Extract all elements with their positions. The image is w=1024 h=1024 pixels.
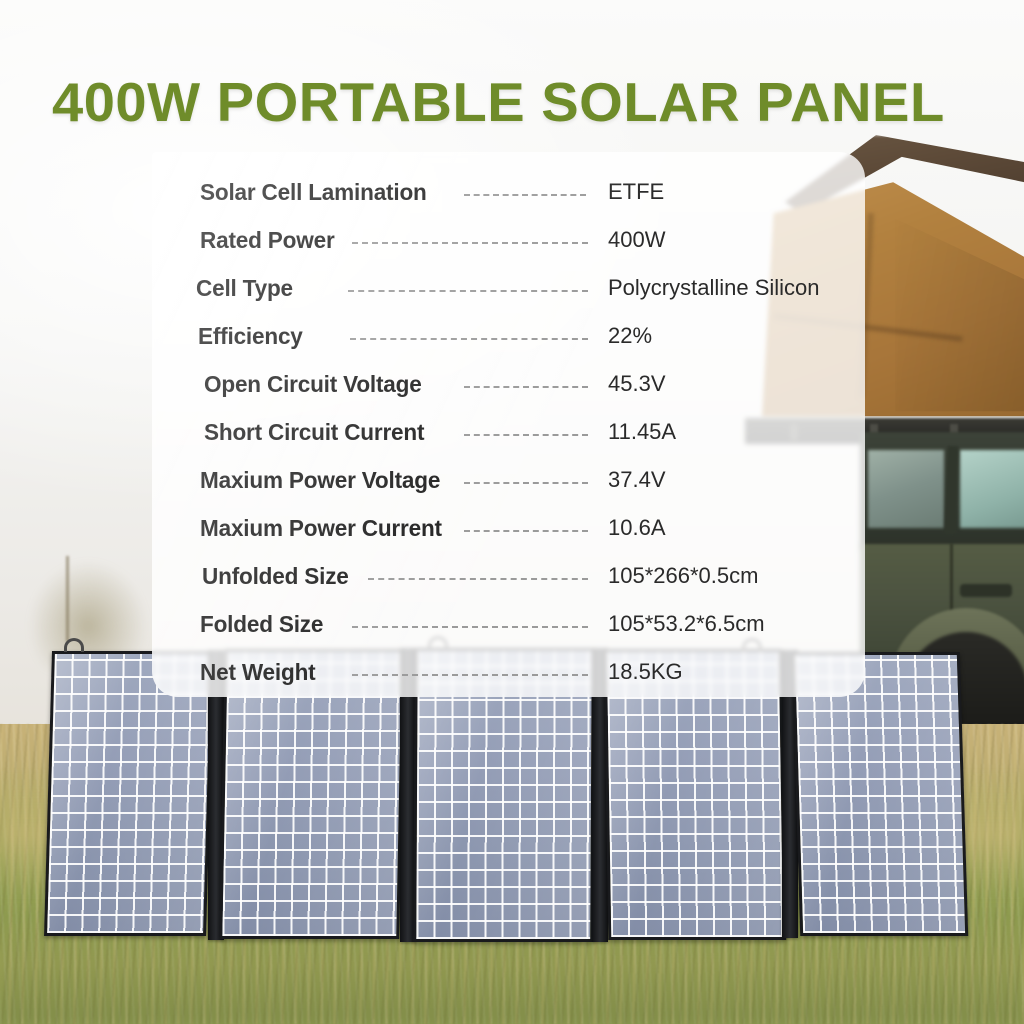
spec-value: 10.6A [608,515,666,541]
spec-row-maximum-power-current: Maxium Power Current 10.6A [152,504,865,552]
spec-value: 11.45A [608,419,676,445]
spec-label: Open Circuit Voltage [204,371,422,398]
spec-value: 22% [608,323,652,349]
spec-leader-line [352,242,588,244]
specification-row-list: Solar Cell Lamination ETFE Rated Power 4… [152,152,865,697]
spec-label: Unfolded Size [202,563,349,590]
spec-value: 37.4V [608,467,666,493]
product-infographic: Solar Cell Lamination ETFE Rated Power 4… [0,0,1024,1024]
spec-row-maximum-power-voltage: Maxium Power Voltage 37.4V [152,456,865,504]
spec-leader-line [352,674,588,676]
spec-leader-line [464,434,588,436]
spec-value: 105*53.2*6.5cm [608,611,765,637]
spec-value: Polycrystalline Silicon [608,275,820,301]
spec-label: Cell Type [196,275,293,302]
spec-row-rated-power: Rated Power 400W [152,216,865,264]
spec-value: 18.5KG [608,659,683,685]
spec-leader-line [352,626,588,628]
spec-row-cell-type: Cell Type Polycrystalline Silicon [152,264,865,312]
spec-label: Net Weight [200,659,315,686]
spec-row-efficiency: Efficiency 22% [152,312,865,360]
page-title: 400W PORTABLE SOLAR PANEL [52,70,1011,134]
spec-leader-line [464,482,588,484]
spec-row-solar-cell-lamination: Solar Cell Lamination ETFE [152,168,865,216]
spec-leader-line [348,290,588,292]
spec-label: Solar Cell Lamination [200,179,427,206]
spec-value: ETFE [608,179,664,205]
spec-label: Maxium Power Current [200,515,442,542]
spec-row-short-circuit-current: Short Circuit Current 11.45A [152,408,865,456]
spec-label: Rated Power [200,227,335,254]
spec-row-open-circuit-voltage: Open Circuit Voltage 45.3V [152,360,865,408]
spec-leader-line [464,194,586,196]
spec-row-unfolded-size: Unfolded Size 105*266*0.5cm [152,552,865,600]
spec-row-net-weight: Net Weight 18.5KG [152,648,865,696]
spec-leader-line [368,578,588,580]
specification-card: Solar Cell Lamination ETFE Rated Power 4… [152,152,865,697]
spec-leader-line [464,386,588,388]
spec-row-folded-size: Folded Size 105*53.2*6.5cm [152,600,865,648]
spec-value: 45.3V [608,371,666,397]
spec-label: Short Circuit Current [204,419,424,446]
spec-leader-line [464,530,588,532]
panel-carry-loop [64,638,84,652]
spec-label: Efficiency [198,323,303,350]
spec-value: 105*266*0.5cm [608,563,758,589]
spec-label: Maxium Power Voltage [200,467,440,494]
spec-label: Folded Size [200,611,323,638]
spec-value: 400W [608,227,665,253]
spec-leader-line [350,338,588,340]
